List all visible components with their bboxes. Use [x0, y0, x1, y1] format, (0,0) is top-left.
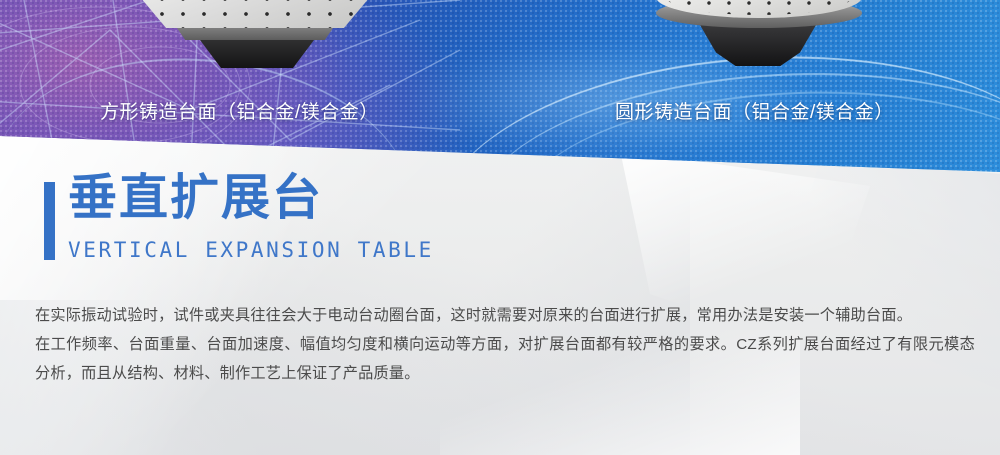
page-title: 垂直扩展台: [68, 174, 323, 223]
description-body: 在实际振动试验时，试件或夹具往往会大于电动台动圈台面，这时就需要对原来的台面进行…: [35, 301, 975, 388]
table-hole-pattern: [138, 0, 372, 28]
description-paragraph-2: 在工作频率、台面重量、台面加速度、幅值均匀度和横向运动等方面，对扩展台面都有较严…: [35, 330, 975, 388]
page-subtitle: VERTICAL EXPANSION TABLE: [68, 238, 434, 262]
title-accent-bar: [44, 182, 55, 260]
round-cast-table-photo: [640, 0, 880, 90]
product-detail-page: 方形铸造台面（铝合金/镁合金） 圆形铸造台面（铝合金/镁合金） 垂直扩展台 VE…: [0, 0, 1000, 455]
background-facet: [330, 120, 690, 455]
round-table-caption: 圆形铸造台面（铝合金/镁合金）: [615, 97, 894, 124]
description-paragraph-1: 在实际振动试验时，试件或夹具往往会大于电动台动圈台面，这时就需要对原来的台面进行…: [35, 301, 975, 330]
square-cast-table-photo: [120, 0, 380, 86]
square-table-caption: 方形铸造台面（铝合金/镁合金）: [100, 97, 379, 124]
